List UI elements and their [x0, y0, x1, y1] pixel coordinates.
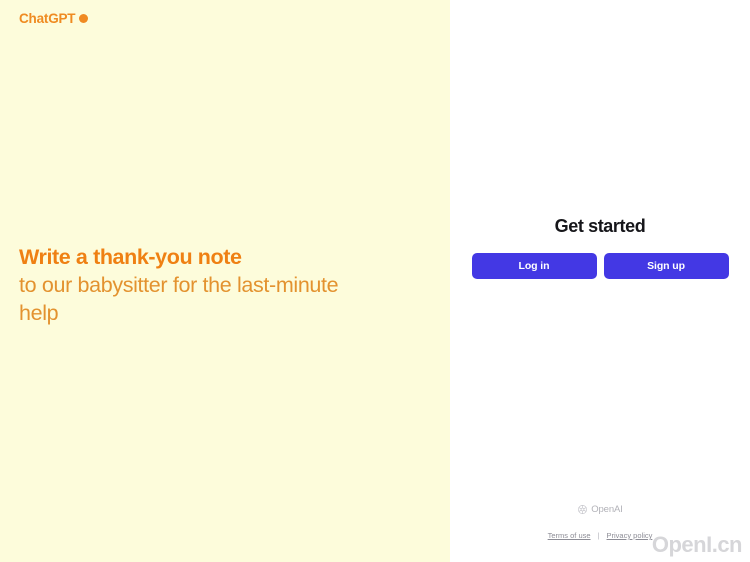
openai-label: OpenAI	[591, 504, 623, 515]
terms-of-use-link[interactable]: Terms of use	[548, 531, 591, 540]
suggestion-prompt: Write a thank-you note to our babysitter…	[19, 243, 419, 327]
footer-link-separator: |	[598, 531, 600, 540]
privacy-policy-link[interactable]: Privacy policy	[607, 531, 653, 540]
signup-button[interactable]: Sign up	[604, 253, 729, 279]
chatgpt-landing-page: ChatGPT Write a thank-you note to our ba…	[0, 0, 750, 562]
orange-dot-icon	[79, 14, 88, 23]
openai-logo-icon	[577, 504, 588, 515]
auth-buttons-row: Log in Sign up	[472, 253, 729, 279]
suggestion-prompt-line-3: help	[19, 299, 419, 327]
suggestion-prompt-line-2: to our babysitter for the last-minute	[19, 271, 419, 299]
right-auth-panel: Get started Log in Sign up OpenAI Terms …	[450, 0, 750, 562]
footer-links: Terms of use | Privacy policy	[548, 531, 653, 540]
chatgpt-brand-label: ChatGPT	[19, 11, 75, 26]
left-promo-panel: ChatGPT Write a thank-you note to our ba…	[0, 0, 450, 562]
login-button[interactable]: Log in	[472, 253, 597, 279]
footer: OpenAI Terms of use | Privacy policy	[450, 504, 750, 540]
get-started-heading: Get started	[555, 216, 646, 237]
chatgpt-brand-logo[interactable]: ChatGPT	[19, 11, 88, 26]
openai-brand-mark: OpenAI	[577, 504, 623, 515]
auth-block: Get started Log in Sign up	[450, 216, 750, 279]
suggestion-prompt-line-1: Write a thank-you note	[19, 243, 419, 271]
